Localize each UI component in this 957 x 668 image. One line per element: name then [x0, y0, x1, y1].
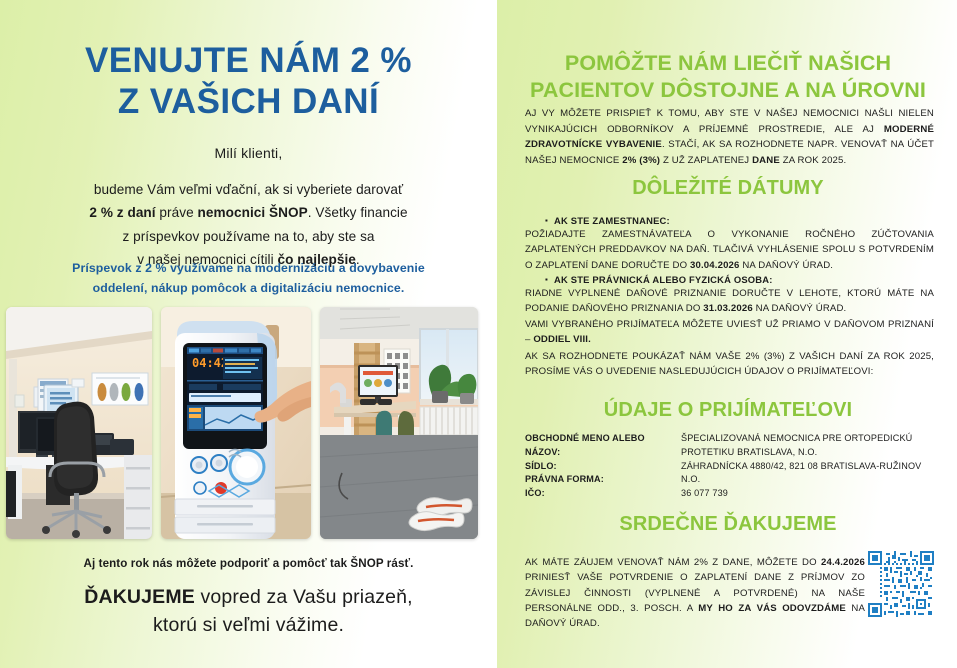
right-heading-line-1: POMÔŽTE NÁM LIEČIŤ NAŠICH: [508, 50, 948, 77]
flyer-page: VENUJTE NÁM 2 % Z VAŠICH DANÍ Milí klien…: [0, 0, 957, 668]
device-timer-text: 04:42: [192, 356, 228, 370]
right-heading-line-2: PACIENTOV DÔSTOJNE A NA ÚROVNI: [508, 77, 948, 104]
row-value: 36 077 739: [681, 487, 934, 501]
photo-consulting-room: [6, 307, 152, 539]
table-row: OBCHODNÉ MENO ALEBO NÁZOV: ŠPECIALIZOVAN…: [525, 432, 934, 460]
table-row: SÍDLO: ZÁHRADNÍCKA 4880/42, 821 08 BRATI…: [525, 460, 934, 474]
dates-legal-text: RIADNE VYPLNENÉ DAŇOVÉ PRIZNANIE DORUČTE…: [525, 286, 934, 347]
row-label: OBCHODNÉ MENO ALEBO NÁZOV:: [525, 432, 681, 460]
recipient-details-table: OBCHODNÉ MENO ALEBO NÁZOV: ŠPECIALIZOVAN…: [525, 432, 934, 501]
title-line-2: Z VAŠICH DANÍ: [0, 81, 497, 122]
bullet-employee-label: AK STE ZAMESTNANEC:: [545, 215, 670, 226]
table-row: PRÁVNA FORMA: N.O.: [525, 473, 934, 487]
row-label: SÍDLO:: [525, 460, 681, 474]
thanks-heading: SRDEČNE ĎAKUJEME: [508, 513, 948, 536]
left-panel: VENUJTE NÁM 2 % Z VAŠICH DANÍ Milí klien…: [0, 0, 497, 668]
photo-therapy-device: 04:42: [161, 307, 311, 539]
bullet-legal-label: AK STE PRÁVNICKÁ ALEBO FYZICKÁ OSOBA:: [545, 274, 773, 285]
table-row: IČO: 36 077 739: [525, 487, 934, 501]
row-value-line-1: ŠPECIALIZOVANÁ NEMOCNICA PRE ORTOPEDICKÚ: [681, 432, 934, 446]
row-label: IČO:: [525, 487, 681, 501]
row-label: PRÁVNA FORMA:: [525, 473, 681, 487]
dates-closing-text: AK SA ROZHODNETE POUKÁZAŤ NÁM VAŠE 2% (3…: [525, 349, 934, 380]
thanks-text-left: ĎAKUJEME vopred za Vašu priazeň,ktorú si…: [0, 583, 497, 640]
thanks-paragraph: AK MÁTE ZÁUJEM VENOVAŤ NÁM 2% Z DANE, MÔ…: [525, 555, 865, 632]
photo-gallery: 04:42: [6, 307, 478, 539]
dates-heading: DÔLEŽITÉ DÁTUMY: [508, 177, 948, 200]
qr-code-icon[interactable]: [868, 551, 934, 617]
intro-paragraph: AJ VY MÔŽETE PRISPIEŤ K TOMU, ABY STE V …: [525, 106, 934, 168]
support-line: Aj tento rok nás môžete podporiť a pomôc…: [0, 557, 497, 570]
photo-rehabilitation-room: [320, 307, 478, 539]
recipient-heading: ÚDAJE O PRIJÍMATEĽOVI: [508, 399, 948, 422]
dates-employee-text: POŽIADAJTE ZAMESTNÁVATEĽA O VYKONANIE RO…: [525, 227, 934, 273]
title-line-1: VENUJTE NÁM 2 %: [0, 40, 497, 81]
greeting-text: Milí klienti,: [0, 145, 497, 161]
row-value: ZÁHRADNÍCKA 4880/42, 821 08 BRATISLAVA-R…: [681, 460, 934, 474]
row-value-line-2: PROTETIKU BRATISLAVA, N.O.: [681, 446, 934, 460]
left-highlight-text: Príspevok z 2 % využívame na modernizáci…: [24, 258, 473, 299]
row-value: ŠPECIALIZOVANÁ NEMOCNICA PRE ORTOPEDICKÚ…: [681, 432, 934, 460]
page-title: VENUJTE NÁM 2 % Z VAŠICH DANÍ: [0, 40, 497, 123]
right-heading: POMÔŽTE NÁM LIEČIŤ NAŠICH PACIENTOV DÔST…: [508, 50, 948, 104]
row-value: N.O.: [681, 473, 934, 487]
